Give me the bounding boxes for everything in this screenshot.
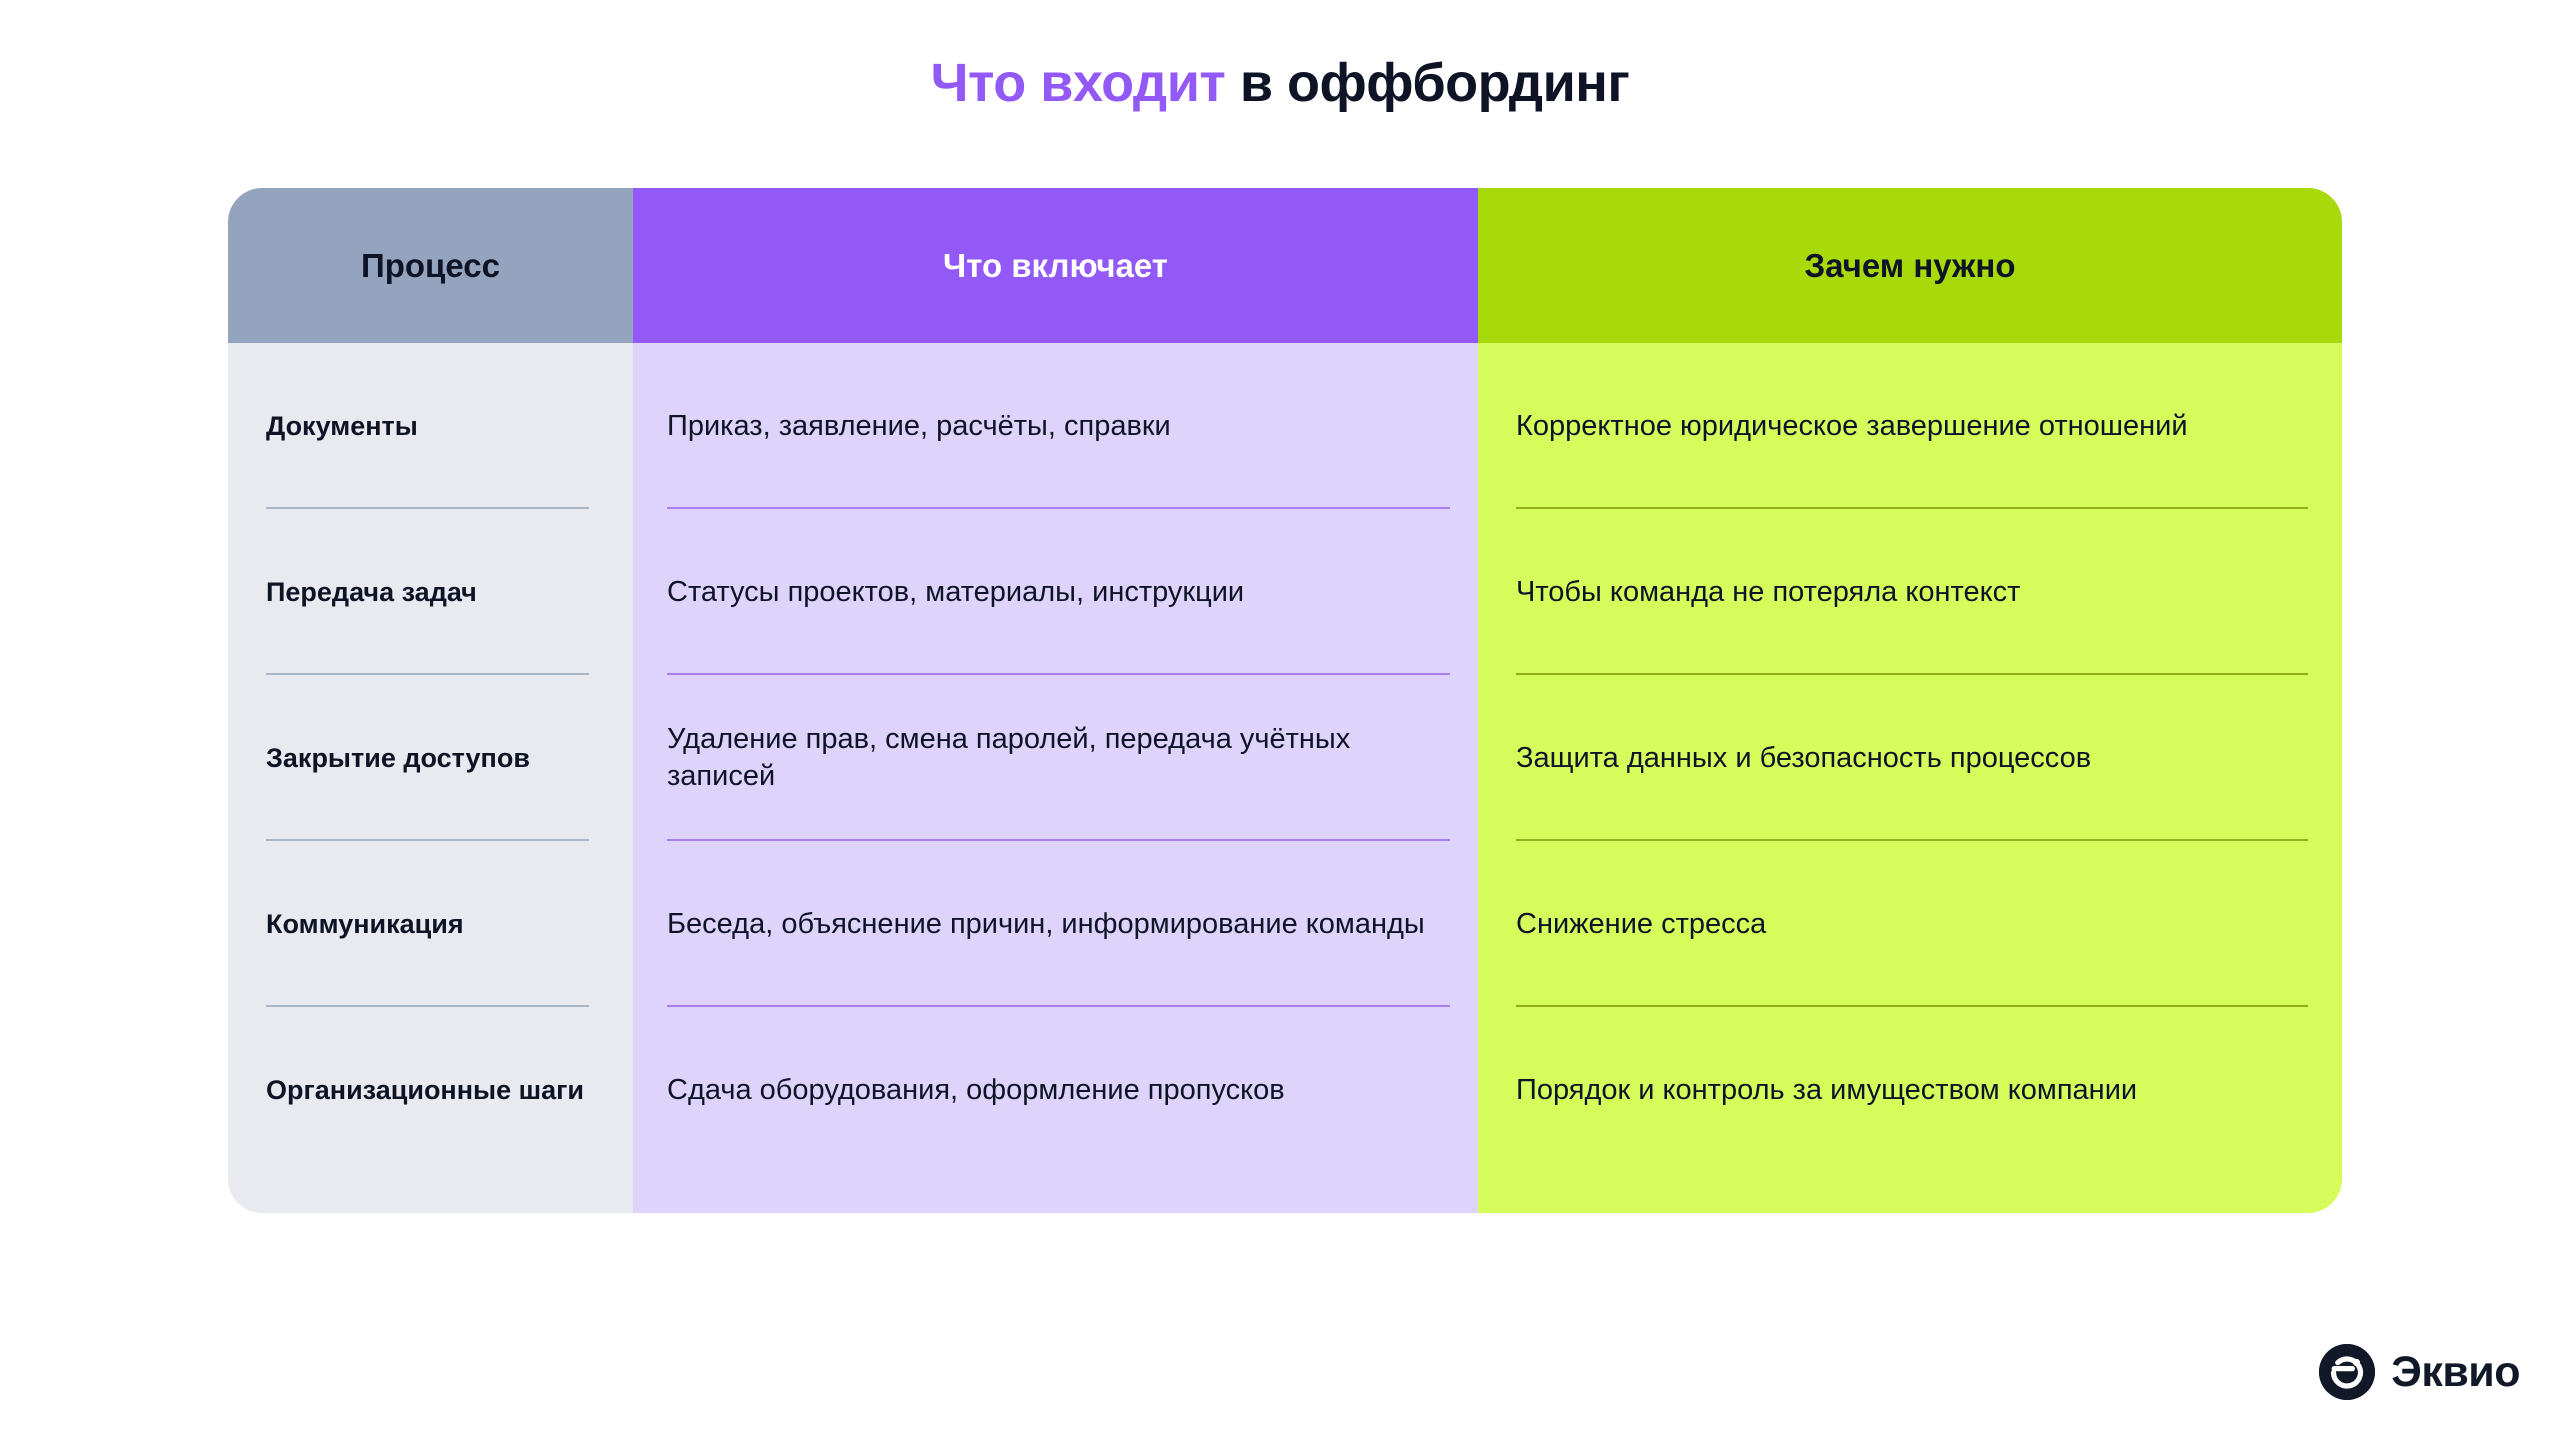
table-row: Закрытие доступов — [228, 675, 633, 841]
table-column-why: Корректное юридическое завершение отноше… — [1478, 343, 2342, 1213]
table-row: Удаление прав, смена паролей, передача у… — [633, 675, 1478, 841]
cell-process: Закрытие доступов — [266, 741, 530, 775]
cell-process: Документы — [266, 409, 418, 443]
table-row: Порядок и контроль за имуществом компани… — [1478, 1007, 2342, 1173]
table-row: Документы — [228, 343, 633, 509]
table-header-row: Процесс Что включает Зачем нужно — [228, 188, 2342, 343]
brand-logo: Эквио — [2319, 1344, 2520, 1400]
table-row: Корректное юридическое завершение отноше… — [1478, 343, 2342, 509]
page-title: Что входит в оффбординг — [0, 52, 2560, 114]
cell-includes: Удаление прав, смена паролей, передача у… — [667, 721, 1454, 794]
table-row: Беседа, объяснение причин, информировани… — [633, 841, 1478, 1007]
page-title-accent: Что входит — [931, 53, 1226, 113]
table-row: Чтобы команда не потеряла контекст — [1478, 509, 2342, 675]
table-row: Передача задач — [228, 509, 633, 675]
cell-includes: Беседа, объяснение причин, информировани… — [667, 906, 1425, 943]
cell-process: Передача задач — [266, 575, 477, 609]
table-column-includes: Приказ, заявление, расчёты, справки Стат… — [633, 343, 1478, 1213]
cell-why: Порядок и контроль за имуществом компани… — [1516, 1072, 2137, 1109]
column-header-includes: Что включает — [633, 188, 1478, 343]
table-row: Приказ, заявление, расчёты, справки — [633, 343, 1478, 509]
cell-includes: Статусы проектов, материалы, инструкции — [667, 574, 1244, 611]
ekvio-circle-icon — [2319, 1344, 2375, 1400]
cell-includes: Приказ, заявление, расчёты, справки — [667, 408, 1171, 445]
table-row: Сдача оборудования, оформление пропусков — [633, 1007, 1478, 1173]
brand-name: Эквио — [2391, 1351, 2520, 1394]
column-header-process: Процесс — [228, 188, 633, 343]
column-header-why: Зачем нужно — [1478, 188, 2342, 343]
table-row: Защита данных и безопасность процессов — [1478, 675, 2342, 841]
table-row: Снижение стресса — [1478, 841, 2342, 1007]
cell-why: Защита данных и безопасность процессов — [1516, 740, 2091, 777]
table-row: Статусы проектов, материалы, инструкции — [633, 509, 1478, 675]
table-body: Документы Передача задач Закрытие доступ… — [228, 343, 2342, 1213]
table-column-process: Документы Передача задач Закрытие доступ… — [228, 343, 633, 1213]
cell-process: Организационные шаги — [266, 1073, 584, 1107]
comparison-table: Процесс Что включает Зачем нужно Докумен… — [228, 188, 2342, 1213]
table-row: Коммуникация — [228, 841, 633, 1007]
table-row: Организационные шаги — [228, 1007, 633, 1173]
page-title-rest: в оффбординг — [1225, 53, 1629, 113]
cell-why: Корректное юридическое завершение отноше… — [1516, 408, 2188, 445]
cell-includes: Сдача оборудования, оформление пропусков — [667, 1072, 1285, 1109]
cell-process: Коммуникация — [266, 907, 464, 941]
cell-why: Снижение стресса — [1516, 906, 1766, 943]
cell-why: Чтобы команда не потеряла контекст — [1516, 574, 2020, 611]
